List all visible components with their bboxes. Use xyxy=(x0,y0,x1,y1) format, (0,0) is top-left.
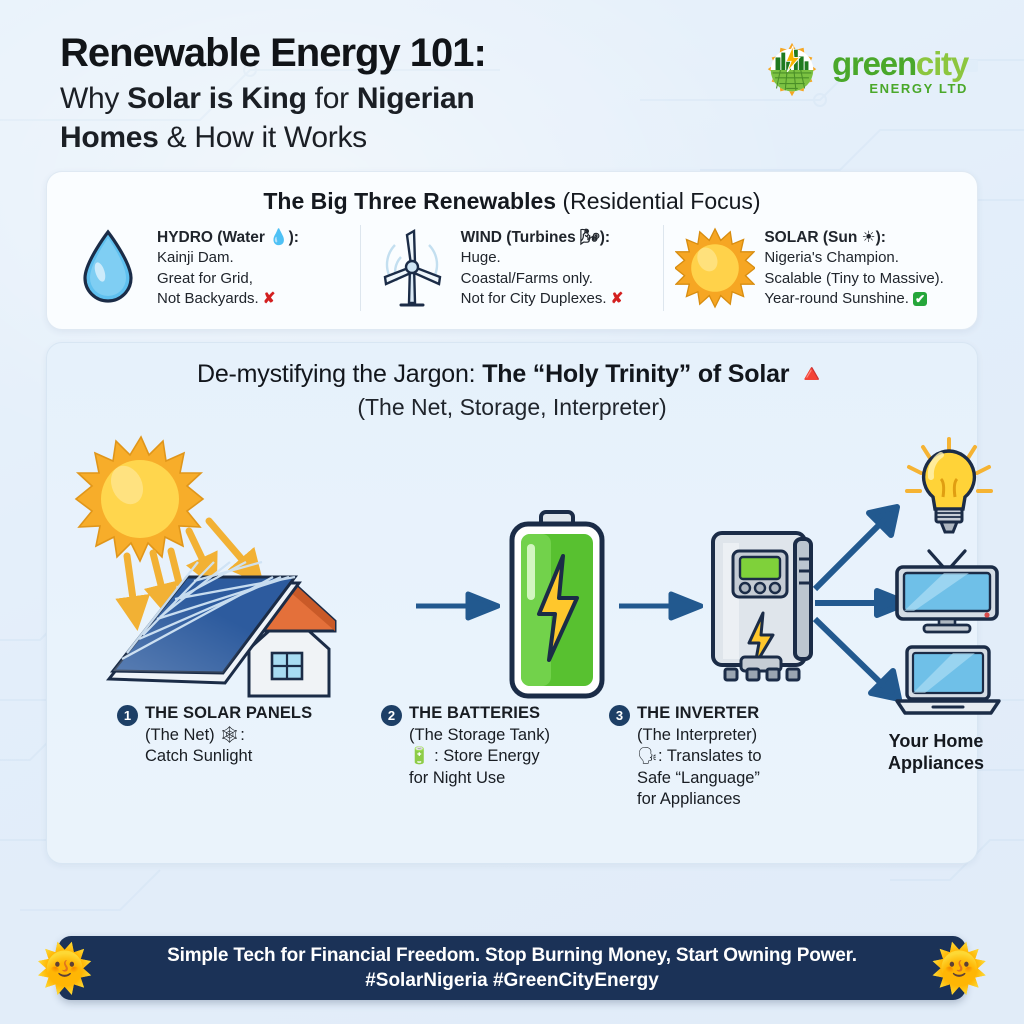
house-with-solar-panels-icon xyxy=(109,562,335,696)
diagram-step-captions: 1 THE SOLAR PANELS (The Net) 🕸: Catch Su… xyxy=(61,703,963,823)
trinity-heading-normal: De-mystifying the Jargon: xyxy=(197,360,482,388)
step-1-text: THE SOLAR PANELS (The Net) 🕸: Catch Sunl… xyxy=(145,703,312,767)
step-2-line3: 🔋 : Store Energy xyxy=(409,747,540,765)
red-triangle-icon: 🔺 xyxy=(796,359,827,388)
renewable-text-solar: SOLAR (Sun ☀): Nigeria's Champion. Scala… xyxy=(764,227,944,310)
solar-title-text: SOLAR (Sun xyxy=(764,229,857,246)
renewable-title-solar: SOLAR (Sun ☀): xyxy=(764,227,944,248)
subtitle-part-why: Why xyxy=(60,82,127,115)
holy-trinity-card: De-mystifying the Jargon: The “Holy Trin… xyxy=(46,342,978,864)
renewable-title-hydro: HYDRO (Water 💧): xyxy=(157,227,299,248)
hydro-line-3: Not Backyards. ✘ xyxy=(157,289,299,310)
wind-line-3: Not for City Duplexes. ✘ xyxy=(461,289,624,310)
solar-line-1: Nigeria's Champion. xyxy=(764,248,944,269)
footer: Simple Tech for Financial Freedom. Stop … xyxy=(40,930,984,1006)
appliances-label-line2: Appliances xyxy=(888,753,984,773)
wind-title-tail: ): xyxy=(600,229,610,246)
step-3-title: THE INVERTER xyxy=(637,704,759,722)
wind-turbine-icon xyxy=(369,225,455,311)
appliances-label-line1: Your Home xyxy=(889,731,984,751)
cross-mark-icon: ✘ xyxy=(263,290,276,307)
big-three-renewables-card: The Big Three Renewables (Residential Fo… xyxy=(46,171,978,330)
step-3-inverter: 3 THE INVERTER (The Interpreter) 🗣: Tran… xyxy=(609,703,849,810)
big-three-heading: The Big Three Renewables (Residential Fo… xyxy=(57,188,967,215)
appliances-label: Your Home Appliances xyxy=(851,731,1021,775)
subtitle-part-homes: Homes xyxy=(60,121,159,154)
arrow-batteries-to-inverter xyxy=(619,591,703,621)
solar-title-tail: ): xyxy=(876,229,886,246)
renewable-column-solar: SOLAR (Sun ☀): Nigeria's Champion. Scala… xyxy=(663,225,967,311)
step-2-number: 2 xyxy=(381,705,402,726)
solar-flow-diagram: 1 THE SOLAR PANELS (The Net) 🕸: Catch Su… xyxy=(61,425,963,805)
page-subtitle: Why Solar is King for Nigerian Homes & H… xyxy=(60,79,486,157)
hydro-title-text: HYDRO (Water xyxy=(157,229,265,246)
step-2-line4: for Night Use xyxy=(409,769,505,787)
title-block: Renewable Energy 101: Why Solar is King … xyxy=(60,32,486,157)
hydro-line-2: Great for Grid, xyxy=(157,269,299,290)
logo-wordmark: greencity ENERGY LTD xyxy=(832,47,968,95)
subtitle-part-how-it-works: & How it Works xyxy=(159,121,367,154)
sun-and-solar-house-illustration xyxy=(67,431,427,703)
cross-mark-icon: ✘ xyxy=(611,290,624,307)
step-3-line5: for Appliances xyxy=(637,790,741,808)
sun-with-face-icon-left: 🌞 xyxy=(36,945,93,991)
wind-line-2: Coastal/Farms only. xyxy=(461,269,624,290)
renewable-column-hydro: HYDRO (Water 💧): Kainji Dam. Great for G… xyxy=(57,225,360,311)
hydro-title-tail: ): xyxy=(289,229,299,246)
greencity-logo-icon xyxy=(761,40,823,102)
trinity-subheading: (The Net, Storage, Interpreter) xyxy=(61,394,963,421)
arrow-panels-to-batteries xyxy=(416,591,500,621)
renewable-column-wind: WIND (Turbines 🌬): Huge. Coastal/Farms o… xyxy=(360,225,664,311)
step-3-number: 3 xyxy=(609,705,630,726)
step-3-line3: 🗣: Translates to xyxy=(637,747,762,765)
step-1-title: THE SOLAR PANELS xyxy=(145,704,312,722)
wind-face-emoji: 🌬 xyxy=(580,228,600,246)
renewable-text-wind: WIND (Turbines 🌬): Huge. Coastal/Farms o… xyxy=(461,227,624,310)
step-1-line2: (The Net) 🕸: xyxy=(145,726,245,744)
trinity-heading-bold: The “Holy Trinity” of Solar xyxy=(482,360,789,388)
battery-icon xyxy=(505,510,609,700)
step-1-number: 1 xyxy=(117,705,138,726)
lightbulb-icon xyxy=(899,435,999,539)
wind-title-text: WIND (Turbines xyxy=(461,229,576,246)
wind-line-3-text: Not for City Duplexes. xyxy=(461,290,607,307)
sun-emoji: ☀ xyxy=(862,228,876,246)
brand-logo[interactable]: greencity ENERGY LTD xyxy=(761,40,968,102)
logo-word-green: green xyxy=(832,45,916,82)
step-1-line3: Catch Sunlight xyxy=(145,747,252,765)
page-title: Renewable Energy 101: xyxy=(60,32,486,74)
diagram-sun-icon xyxy=(76,437,203,561)
big-three-heading-bold: The Big Three Renewables xyxy=(263,188,556,214)
step-3-line2: (The Interpreter) xyxy=(637,726,757,744)
step-3-line4: Safe “Language” xyxy=(637,769,760,787)
solar-line-3: Year-round Sunshine. ✔ xyxy=(764,289,944,310)
subtitle-part-nigerian: Nigerian xyxy=(357,82,475,115)
step-3-text: THE INVERTER (The Interpreter) 🗣: Transl… xyxy=(637,703,762,810)
logo-word-city: city xyxy=(916,45,968,82)
renewable-text-hydro: HYDRO (Water 💧): Kainji Dam. Great for G… xyxy=(157,227,299,310)
water-drop-emoji: 💧 xyxy=(269,228,288,246)
trinity-heading: De-mystifying the Jargon: The “Holy Trin… xyxy=(61,359,963,389)
footer-tagline: Simple Tech for Financial Freedom. Stop … xyxy=(167,945,857,967)
footer-banner: Simple Tech for Financial Freedom. Stop … xyxy=(58,936,966,1000)
sun-icon xyxy=(672,226,758,310)
sun-with-face-icon-right: 🌞 xyxy=(931,945,988,991)
step-2-line2: (The Storage Tank) xyxy=(409,726,550,744)
big-three-columns: HYDRO (Water 💧): Kainji Dam. Great for G… xyxy=(57,225,967,311)
hydro-line-1: Kainji Dam. xyxy=(157,248,299,269)
renewable-title-wind: WIND (Turbines 🌬): xyxy=(461,227,624,248)
check-mark-icon: ✔ xyxy=(913,292,927,306)
subtitle-part-solar-is-king: Solar is King xyxy=(127,82,306,115)
wind-line-1: Huge. xyxy=(461,248,624,269)
tv-monitor-icon xyxy=(889,547,1005,635)
footer-hashtags: #SolarNigeria #GreenCityEnergy xyxy=(365,970,659,992)
step-2-title: THE BATTERIES xyxy=(409,704,540,722)
step-2-text: THE BATTERIES (The Storage Tank) 🔋 : Sto… xyxy=(409,703,550,789)
logo-subtitle: ENERGY LTD xyxy=(832,82,968,95)
water-drop-icon xyxy=(65,228,151,308)
inverter-icon xyxy=(703,525,823,690)
page-header: Renewable Energy 101: Why Solar is King … xyxy=(40,0,984,157)
big-three-heading-rest: (Residential Focus) xyxy=(556,188,761,214)
solar-line-2: Scalable (Tiny to Massive). xyxy=(764,269,944,290)
subtitle-part-for: for xyxy=(307,82,357,115)
logo-word: greencity xyxy=(832,47,968,80)
step-1-solar-panels: 1 THE SOLAR PANELS (The Net) 🕸: Catch Su… xyxy=(117,703,407,767)
solar-line-3-text: Year-round Sunshine. xyxy=(764,290,909,307)
hydro-line-3-text: Not Backyards. xyxy=(157,290,259,307)
